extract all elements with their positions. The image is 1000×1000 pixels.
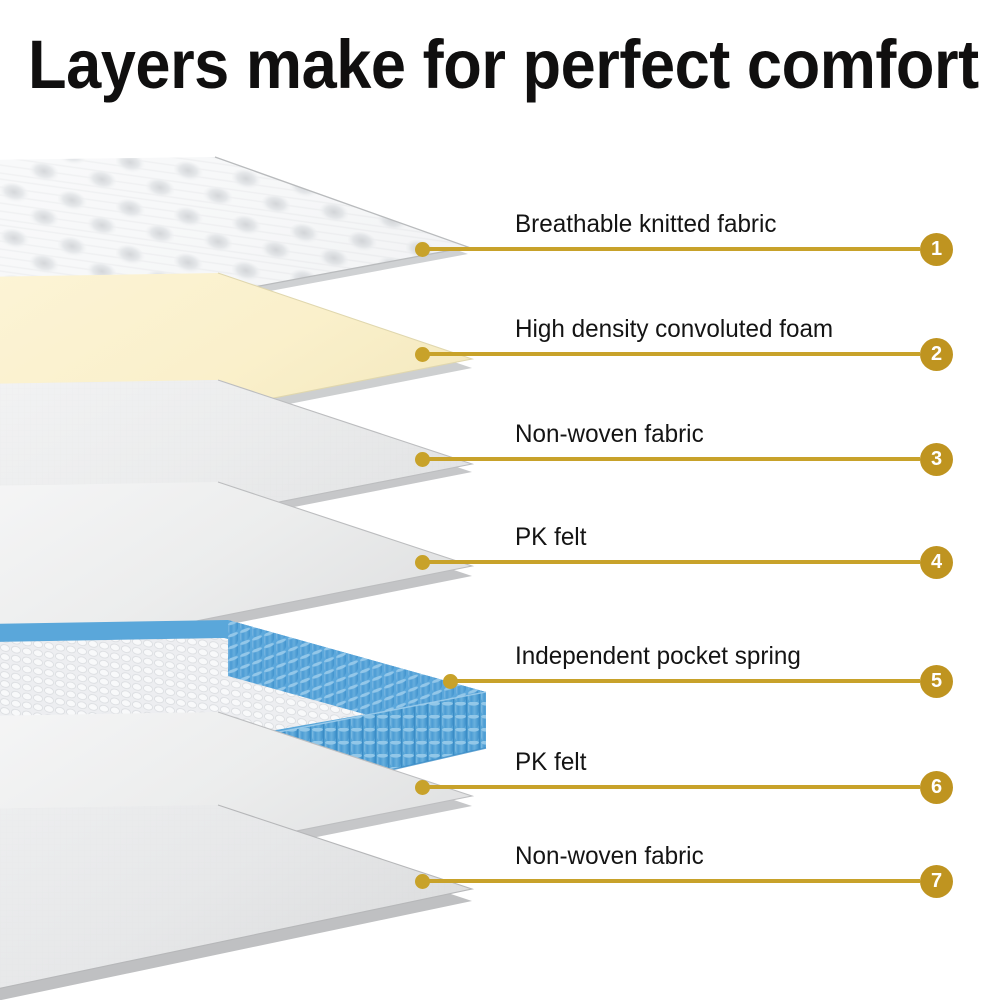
page-title: Layers make for perfect comfort (28, 26, 897, 104)
callout-label-2: High density convoluted foam (515, 315, 833, 344)
callout-label-3: Non-woven fabric (515, 420, 704, 449)
callout-badge-2[interactable]: 2 (920, 338, 953, 371)
leader-dot-6 (415, 780, 430, 795)
callout-label-6: PK felt (515, 748, 586, 777)
leader-line-2 (425, 352, 920, 356)
infographic-canvas: Layers make for perfect comfort (0, 0, 1000, 1000)
callout-badge-1[interactable]: 1 (920, 233, 953, 266)
leader-line-3 (425, 457, 920, 461)
leader-dot-7 (415, 874, 430, 889)
leader-line-1 (425, 247, 920, 251)
leader-dot-3 (415, 452, 430, 467)
layer-7-non-woven-fabric-base (0, 805, 472, 1000)
callout-badge-3[interactable]: 3 (920, 443, 953, 476)
callout-badge-7[interactable]: 7 (920, 865, 953, 898)
callout-badge-5[interactable]: 5 (920, 665, 953, 698)
callout-badge-4[interactable]: 4 (920, 546, 953, 579)
leader-dot-1 (415, 242, 430, 257)
leader-line-7 (425, 879, 920, 883)
leader-dot-4 (415, 555, 430, 570)
callout-label-5: Independent pocket spring (515, 642, 801, 671)
leader-dot-5 (443, 674, 458, 689)
callout-label-7: Non-woven fabric (515, 842, 704, 871)
leader-line-5 (453, 679, 920, 683)
callout-label-4: PK felt (515, 523, 586, 552)
leader-line-6 (425, 785, 920, 789)
callout-label-1: Breathable knitted fabric (515, 210, 777, 239)
leader-dot-2 (415, 347, 430, 362)
callout-badge-6[interactable]: 6 (920, 771, 953, 804)
leader-line-4 (425, 560, 920, 564)
